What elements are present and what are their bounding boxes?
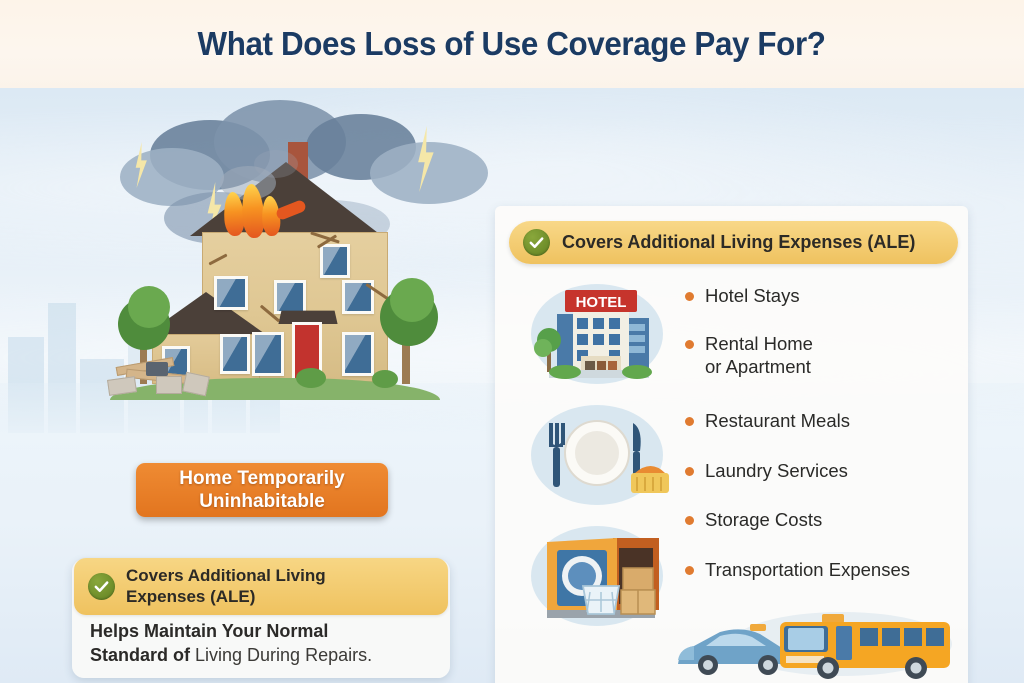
bullet-label: Restaurant Meals bbox=[705, 409, 850, 433]
bush bbox=[296, 368, 326, 388]
list-item: Restaurant Meals bbox=[685, 409, 960, 433]
restaurant-plate-cutlery-icon bbox=[513, 399, 681, 512]
left-card-body-line2b: Living During Repairs. bbox=[195, 645, 372, 665]
bullet-label-line2: or Apartment bbox=[705, 356, 811, 377]
bullet-dot-icon bbox=[685, 292, 694, 301]
bullet-label: Laundry Services bbox=[705, 459, 848, 483]
house-window bbox=[320, 244, 350, 278]
coverage-bullet-list: Hotel Stays Rental Home or Apartment Res… bbox=[685, 284, 960, 606]
house-window bbox=[252, 332, 284, 376]
bullet-label-line1: Rental Home bbox=[705, 333, 813, 354]
house-window bbox=[214, 276, 248, 310]
debris-rubble bbox=[156, 376, 182, 394]
list-item: Rental Home or Apartment bbox=[685, 332, 960, 379]
left-banner-line-2: Expenses (ALE) bbox=[126, 587, 255, 606]
left-card-banner-label: Covers Additional Living Expenses (ALE) bbox=[126, 566, 326, 607]
bullet-dot-icon bbox=[685, 417, 694, 426]
storage-unit-washer-boxes-icon bbox=[513, 520, 681, 633]
badge-line-2: Uninhabitable bbox=[199, 490, 325, 513]
bush bbox=[372, 370, 398, 388]
house-window bbox=[274, 280, 306, 314]
tree-foliage bbox=[128, 286, 170, 328]
debris-object bbox=[146, 362, 168, 376]
coverage-icon-column: HOTEL bbox=[513, 278, 681, 641]
infographic-scene: Home Temporarily Uninhabitable Covers Ad… bbox=[0, 88, 1024, 683]
left-info-card: Covers Additional Living Expenses (ALE) … bbox=[72, 559, 450, 678]
bullet-label: Transportation Expenses bbox=[705, 558, 910, 582]
ale-banner-label: Covers Additional Living Expenses (ALE) bbox=[562, 232, 915, 253]
list-item: Storage Costs bbox=[685, 508, 960, 532]
check-circle-icon bbox=[523, 229, 550, 256]
house-window bbox=[342, 332, 374, 376]
bullet-label: Hotel Stays bbox=[705, 284, 800, 308]
home-uninhabitable-badge: Home Temporarily Uninhabitable bbox=[136, 463, 388, 517]
bullet-dot-icon bbox=[685, 340, 694, 349]
bullet-dot-icon bbox=[685, 467, 694, 476]
taxi-car-and-bus-icon bbox=[672, 608, 972, 683]
house-window bbox=[220, 334, 250, 374]
hotel-sign-text: HOTEL bbox=[576, 294, 627, 311]
ale-banner: Covers Additional Living Expenses (ALE) bbox=[509, 221, 958, 264]
tree-foliage bbox=[390, 278, 434, 322]
bullet-dot-icon bbox=[685, 566, 694, 575]
smoke-puff bbox=[254, 150, 298, 178]
header-bar: What Does Loss of Use Coverage Pay For? bbox=[0, 0, 1024, 88]
page-title: What Does Loss of Use Coverage Pay For? bbox=[198, 25, 826, 63]
left-card-body-line1: Helps Maintain Your Normal bbox=[90, 621, 328, 641]
list-item: Hotel Stays bbox=[685, 284, 960, 308]
bullet-dot-icon bbox=[685, 516, 694, 525]
list-item: Laundry Services bbox=[685, 459, 960, 483]
bullet-label: Rental Home or Apartment bbox=[705, 332, 813, 379]
list-item: Transportation Expenses bbox=[685, 558, 960, 582]
bullet-label: Storage Costs bbox=[705, 508, 822, 532]
left-card-body-line2a: Standard of bbox=[90, 645, 195, 665]
left-card-banner: Covers Additional Living Expenses (ALE) bbox=[74, 558, 448, 615]
left-card-body: Helps Maintain Your Normal Standard of L… bbox=[72, 620, 450, 668]
badge-line-1: Home Temporarily bbox=[179, 467, 344, 490]
left-banner-line-1: Covers Additional Living bbox=[126, 566, 326, 585]
check-circle-icon bbox=[88, 573, 115, 600]
damaged-house-illustration bbox=[150, 140, 490, 390]
hotel-building-icon: HOTEL bbox=[513, 278, 681, 391]
